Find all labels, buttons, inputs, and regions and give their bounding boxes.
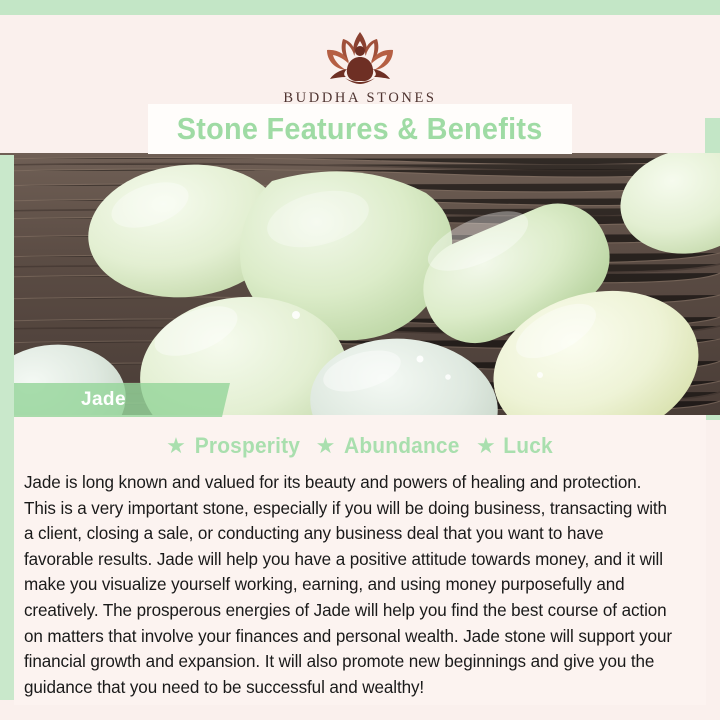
benefit-label: Abundance (344, 433, 460, 459)
stone-name-label: Jade (81, 389, 126, 411)
star-icon: ★ (316, 435, 336, 457)
stone-info-poster: BUDDHA STONES Stone Features & Benefits (0, 0, 720, 720)
benefits-row: ★ Prosperity ★ Abundance ★ Luck (14, 415, 706, 461)
section-title-band: Stone Features & Benefits (148, 104, 572, 154)
star-icon: ★ (476, 435, 496, 457)
benefit-item-prosperity: ★ Prosperity (166, 433, 303, 459)
lotus-meditation-icon (304, 26, 416, 88)
left-green-frame-bar (0, 155, 14, 700)
page-title: Stone Features & Benefits (177, 111, 543, 147)
jade-stones-photo (0, 153, 720, 415)
top-green-frame-bar (0, 0, 720, 15)
benefit-item-abundance: ★ Abundance (316, 433, 463, 459)
benefit-item-luck: ★ Luck (476, 433, 554, 459)
benefit-label: Luck (503, 433, 553, 459)
stone-name-band: Jade (14, 383, 222, 417)
content-panel: ★ Prosperity ★ Abundance ★ Luck Jade is … (14, 415, 706, 705)
stone-description: Jade is long known and valued for its be… (24, 470, 674, 700)
star-icon: ★ (166, 435, 186, 457)
brand-logo-area: BUDDHA STONES (0, 15, 720, 118)
jade-stones-illustration (0, 153, 720, 415)
benefit-label: Prosperity (195, 433, 300, 459)
